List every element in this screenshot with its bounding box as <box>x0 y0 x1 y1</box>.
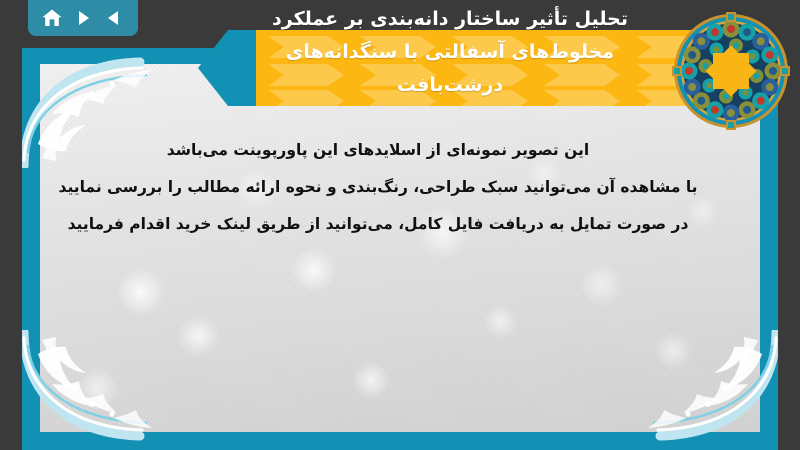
navigation-bar <box>28 0 138 36</box>
forward-button[interactable] <box>70 5 96 31</box>
back-button[interactable] <box>101 5 127 31</box>
slide-body-text: این تصویر نمونه‌ای از اسلایدهای این پاور… <box>40 132 716 243</box>
body-line-3: در صورت تمایل به دریافت فایل کامل، می‌تو… <box>40 206 716 243</box>
slide-title-line-3: درشت‌بافت <box>215 69 685 101</box>
slide-viewer: تحلیل تأثیر ساختار دانه‌بندی بر عملکرد م… <box>0 0 800 450</box>
slide-title-line-1: تحلیل تأثیر ساختار دانه‌بندی بر عملکرد <box>215 3 685 35</box>
medallion-star-center <box>706 46 757 97</box>
triangle-right-icon <box>73 8 93 28</box>
triangle-left-icon <box>104 8 124 28</box>
home-icon <box>41 8 63 28</box>
slide-title: تحلیل تأثیر ساختار دانه‌بندی بر عملکرد م… <box>215 0 685 120</box>
slide-title-line-2: مخلوط‌های آسفالتی با سنگدانه‌های <box>215 36 685 68</box>
persian-medallion-ornament <box>672 12 790 130</box>
body-line-2: با مشاهده آن می‌توانید سبک طراحی، رنگ‌بن… <box>40 169 716 206</box>
home-button[interactable] <box>39 5 65 31</box>
body-line-1: این تصویر نمونه‌ای از اسلایدهای این پاور… <box>40 132 716 169</box>
